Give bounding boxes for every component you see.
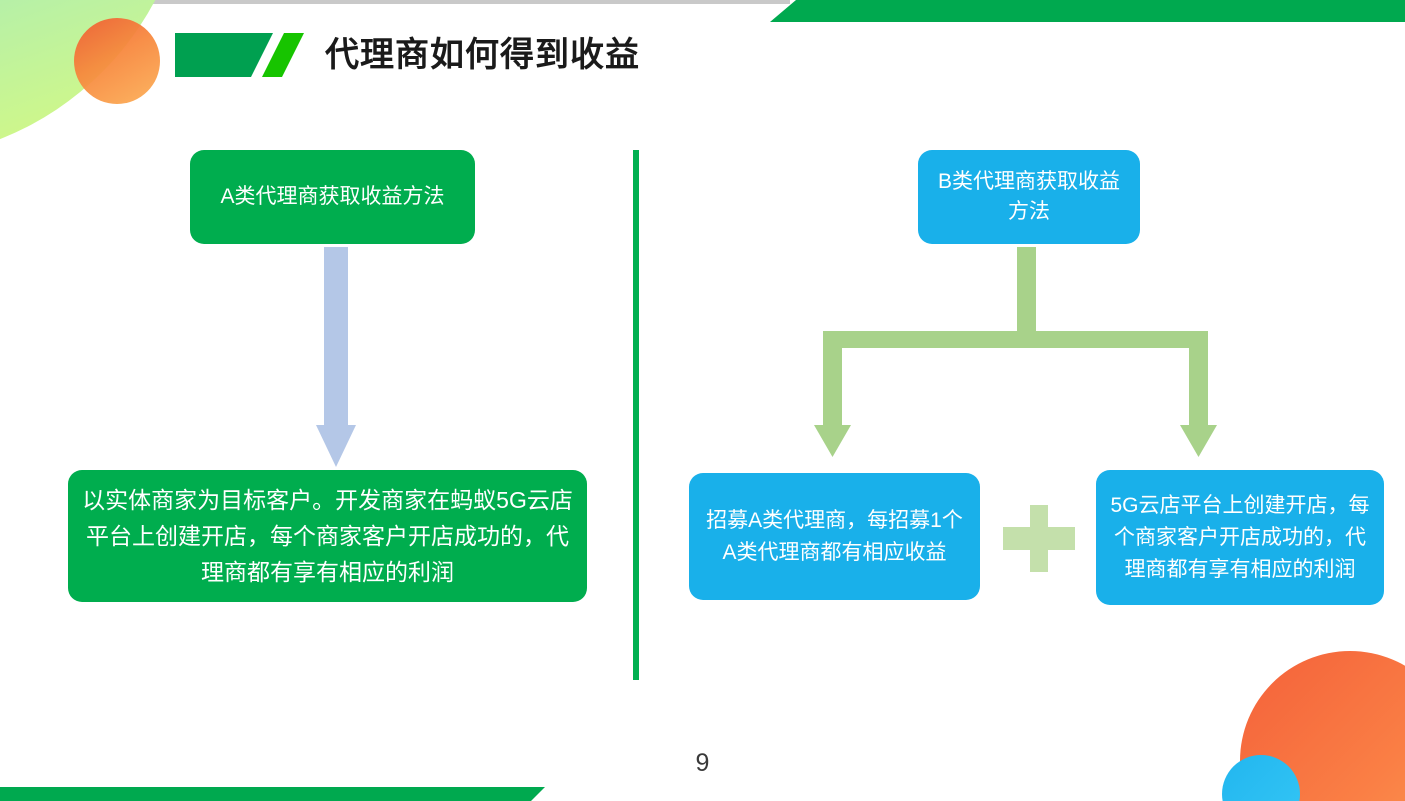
fork-left-leg [823, 331, 842, 427]
fork-right-arrowhead-icon [1180, 425, 1217, 457]
title-chevron-bar-dark [175, 33, 273, 77]
branch-a-head-box[interactable]: A类代理商获取收益方法 [190, 150, 475, 244]
slide-canvas: 代理商如何得到收益 A类代理商获取收益方法 以实体商家为目标客户。开发商家在蚂蚁… [0, 0, 1405, 801]
fork-right-leg [1189, 331, 1208, 427]
orange-circle-decoration [74, 18, 160, 104]
branch-b-head-box[interactable]: B类代理商获取收益方法 [918, 150, 1140, 244]
fork-crossbar [823, 331, 1208, 348]
page-title: 代理商如何得到收益 [325, 33, 640, 77]
branch-b-left-box[interactable]: 招募A类代理商，每招募1个A类代理商都有相应收益 [689, 473, 980, 600]
fork-left-arrowhead-icon [814, 425, 851, 457]
bottom-left-green-accent-bar [0, 787, 545, 801]
branch-b-right-box[interactable]: 5G云店平台上创建开店，每个商家客户开店成功的，代理商都有享有相应的利润 [1096, 470, 1384, 605]
title-chevron-icon [175, 33, 303, 77]
top-right-green-accent-bar [770, 0, 1405, 22]
branch-a-down-arrow-icon [316, 247, 356, 467]
branch-a-body-box[interactable]: 以实体商家为目标客户。开发商家在蚂蚁5G云店平台上创建开店，每个商家客户开店成功… [68, 470, 587, 602]
fork-stem [1017, 247, 1036, 340]
center-vertical-divider [633, 150, 639, 680]
branch-b-fork-arrows-icon [790, 247, 1250, 462]
plus-icon [1003, 505, 1075, 572]
page-number: 9 [0, 749, 1405, 778]
